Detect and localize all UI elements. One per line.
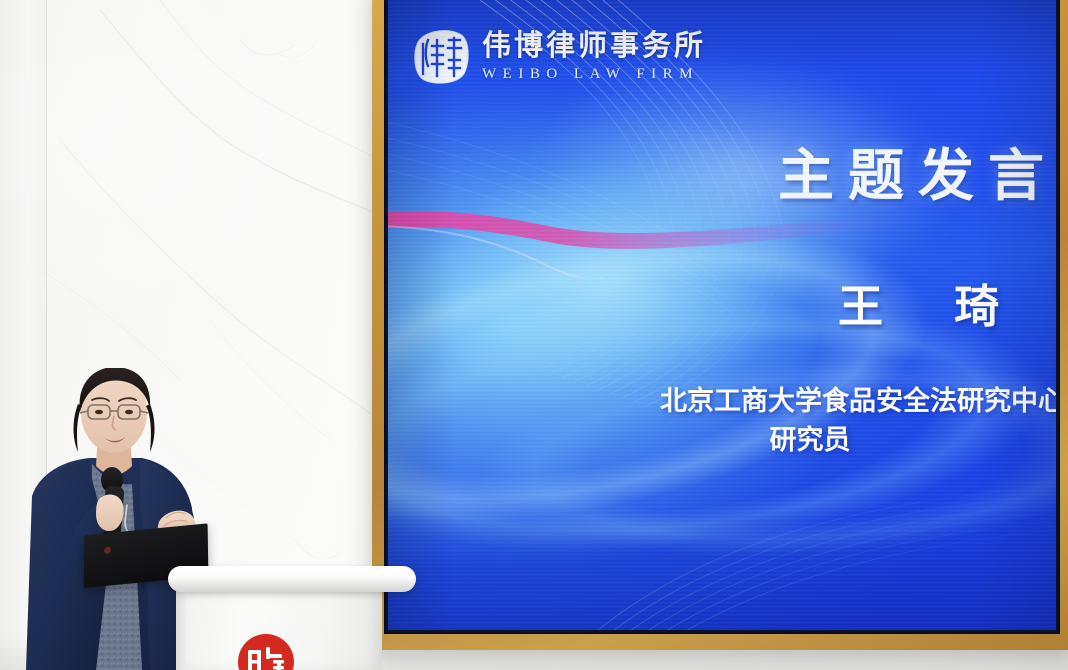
slide-logo-english: WEIBO LAW FIRM — [482, 67, 706, 82]
screen-bezel: 伟博律师事务所 WEIBO LAW FIRM 主题发言 王 琦 北京工商大学食品… — [384, 0, 1060, 634]
slide-affiliation: 北京工商大学食品安全法研究中心 研究员 — [660, 382, 1056, 460]
podium-desk-surface — [168, 566, 416, 592]
weibo-seal-emblem-icon — [410, 26, 472, 88]
podium — [168, 566, 416, 670]
presentation-slide: 伟博律师事务所 WEIBO LAW FIRM 主题发言 王 琦 北京工商大学食品… — [388, 0, 1056, 630]
laptop-indicator-dot — [104, 546, 111, 554]
slide-logo-chinese: 伟博律师事务所 — [482, 32, 706, 61]
slide-logo-words: 伟博律师事务所 WEIBO LAW FIRM — [482, 32, 706, 82]
speaker-hair-side-left — [74, 404, 83, 452]
speaker-hair-side-right — [146, 404, 155, 452]
screen-gold-frame: 伟博律师事务所 WEIBO LAW FIRM 主题发言 王 琦 北京工商大学食品… — [372, 0, 1068, 650]
slide-affiliation-line1: 北京工商大学食品安全法研究中心 — [660, 386, 1056, 416]
podium-red-seal-logo — [228, 632, 304, 670]
slide-title: 主题发言 — [778, 131, 1056, 212]
screenshot-root: 伟博律师事务所 WEIBO LAW FIRM 主题发言 王 琦 北京工商大学食品… — [0, 0, 1068, 670]
slide-affiliation-line2: 研究员 — [660, 421, 960, 460]
slide-speaker-name: 王 琦 — [838, 270, 1029, 335]
slide-logo: 伟博律师事务所 WEIBO LAW FIRM — [410, 26, 706, 88]
